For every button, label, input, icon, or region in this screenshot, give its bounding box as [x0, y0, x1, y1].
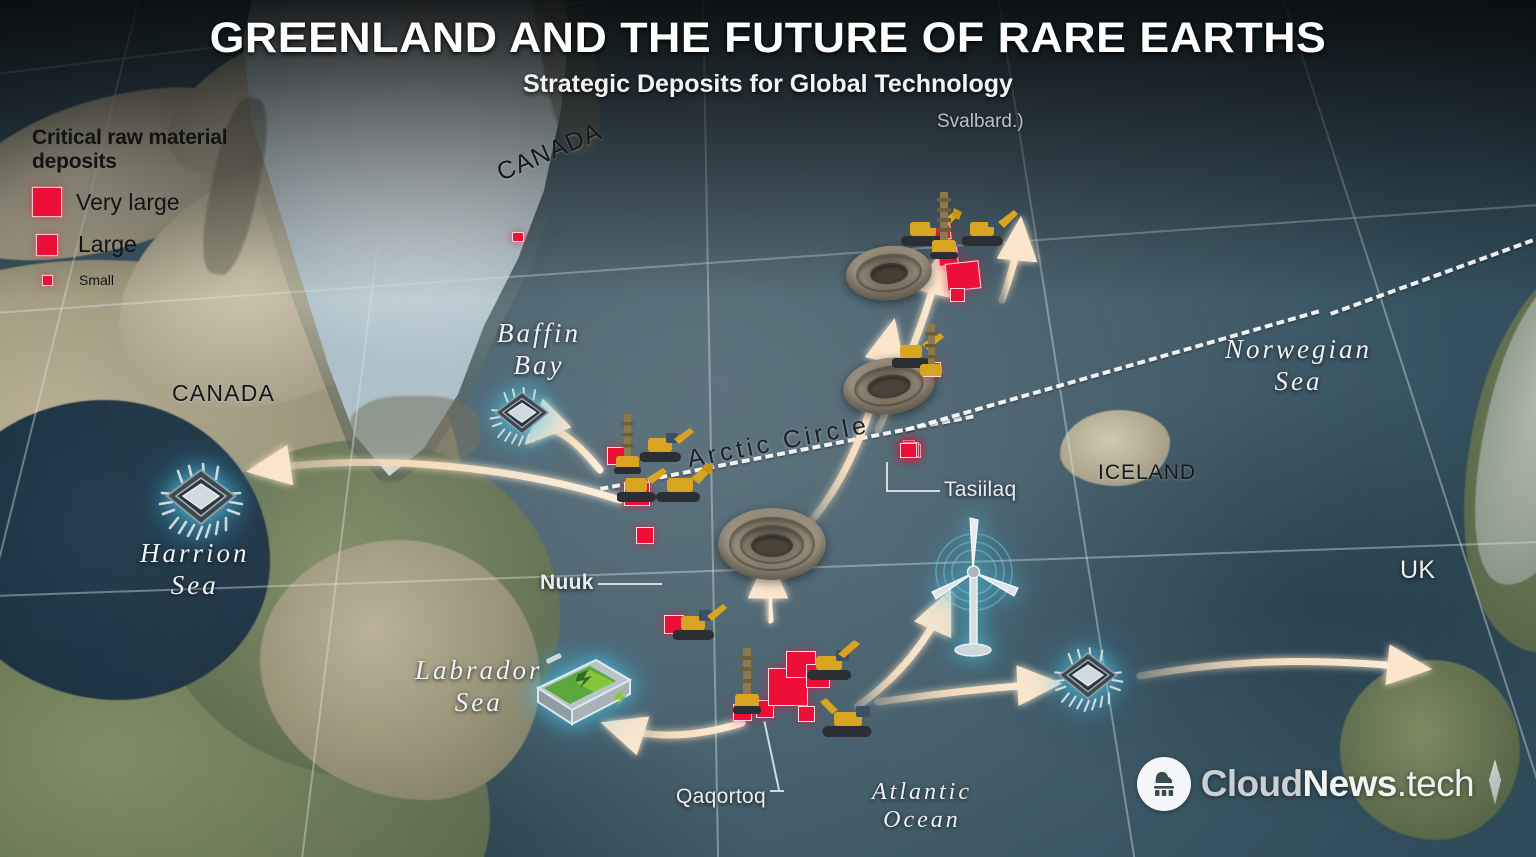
cloud-icon: [1137, 757, 1191, 811]
legend-label-small: Small: [79, 272, 114, 288]
legend-swatch-large: [36, 234, 58, 256]
microchip-icon-canada: [158, 462, 244, 542]
battery-icon: [524, 650, 636, 732]
deposit-marker-large[interactable]: [798, 706, 815, 722]
deposit-marker-large[interactable]: [636, 527, 654, 544]
watermark-brand-cloud: Cloud: [1201, 763, 1303, 804]
deposit-marker-tasiilaq[interactable]: [900, 443, 917, 458]
legend-swatch-small: [42, 275, 53, 286]
drill-rig-south: [731, 646, 763, 716]
microchip-icon-baffin: [489, 386, 555, 448]
title-block: GREENLAND AND THE FUTURE OF RARE EARTHS …: [0, 14, 1536, 99]
legend-swatch-very-large: [32, 187, 62, 217]
open-pit-mine-central: [718, 508, 826, 580]
microchip-icon-europe: [1052, 646, 1124, 714]
excavator-south-2: [818, 690, 884, 740]
leader-line-tasiilaq-riser: [886, 462, 888, 492]
page-subtitle: Strategic Deposits for Global Technology: [0, 70, 1536, 99]
legend: Critical raw material deposits Very larg…: [32, 126, 292, 288]
wind-turbine-icon: [926, 512, 1022, 662]
leader-line-tasiilaq: [886, 490, 940, 492]
watermark-brand-news: News: [1303, 763, 1397, 804]
infographic-canvas: CANADA CANADA Baffin Bay Harrion Sea Lab…: [0, 0, 1536, 857]
deposit-marker-very-large[interactable]: [945, 260, 982, 291]
excavator-nuuk: [673, 598, 729, 644]
excavator-south-1: [806, 636, 866, 684]
excavator-west-3: [655, 458, 717, 506]
legend-title: Critical raw material deposits: [32, 126, 292, 173]
watermark-text: CloudNews.tech: [1201, 763, 1474, 805]
watermark-brand-tld: .tech: [1397, 763, 1474, 804]
deposit-marker-small[interactable]: [512, 232, 524, 242]
page-title: GREENLAND AND THE FUTURE OF RARE EARTHS: [0, 14, 1536, 63]
legend-item-large[interactable]: Large: [32, 231, 292, 258]
leader-line-nuuk: [598, 583, 662, 585]
legend-title-line1: Critical raw material: [32, 126, 292, 150]
legend-label-very-large: Very large: [76, 189, 180, 216]
deposit-marker-large[interactable]: [950, 288, 965, 302]
leader-line-qaqortoq-h: [770, 790, 784, 792]
drill-rig-north: [928, 190, 960, 260]
legend-title-line2: deposits: [32, 150, 292, 174]
legend-label-large: Large: [78, 231, 137, 258]
legend-item-very-large[interactable]: Very large: [32, 187, 292, 217]
legend-item-small[interactable]: Small: [32, 272, 292, 288]
watermark[interactable]: CloudNews.tech: [1137, 757, 1474, 811]
excavator-north-2: [962, 204, 1020, 250]
drill-rig-east-mid: [918, 322, 946, 382]
